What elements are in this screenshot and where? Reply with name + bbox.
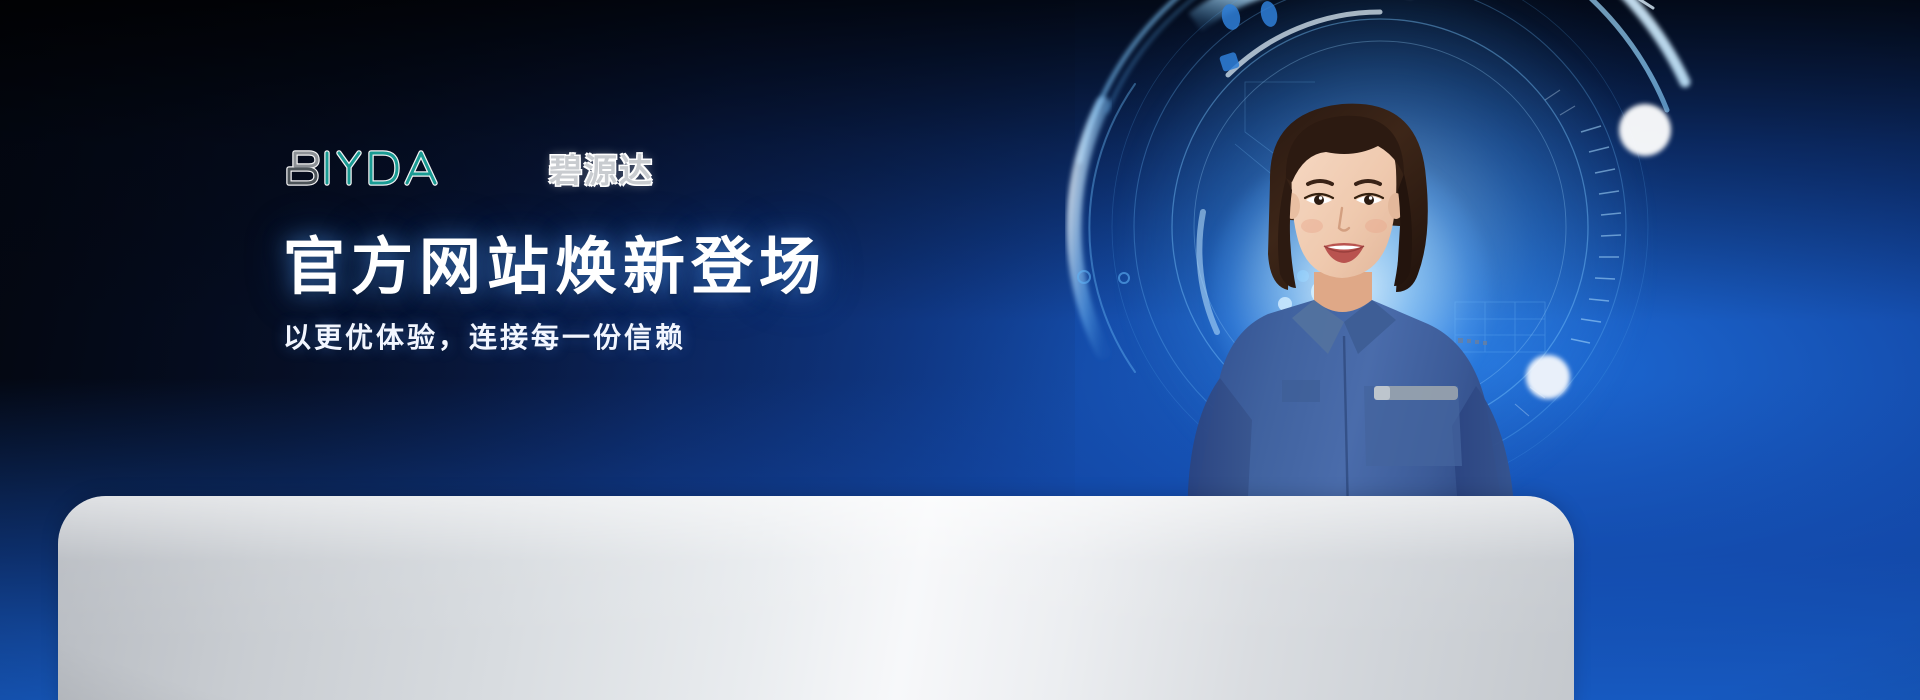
brand-chinese-name: 碧源达 <box>549 144 654 192</box>
page-title: 官方网站焕新登场 <box>283 235 1043 301</box>
bottom-silver-panel <box>58 496 1574 700</box>
biyda-wordmark-icon <box>283 145 535 191</box>
hero-copy: 碧源达 官方网站焕新登场 以更优体验，连接每一份信赖 <box>283 145 1043 354</box>
hero-banner: 碧源达 官方网站焕新登场 以更优体验，连接每一份信赖 <box>0 0 1920 700</box>
brand-logo[interactable]: 碧源达 <box>283 145 1043 191</box>
page-subtitle: 以更优体验，连接每一份信赖 <box>283 321 1043 355</box>
panel-sheen <box>58 496 1574 700</box>
